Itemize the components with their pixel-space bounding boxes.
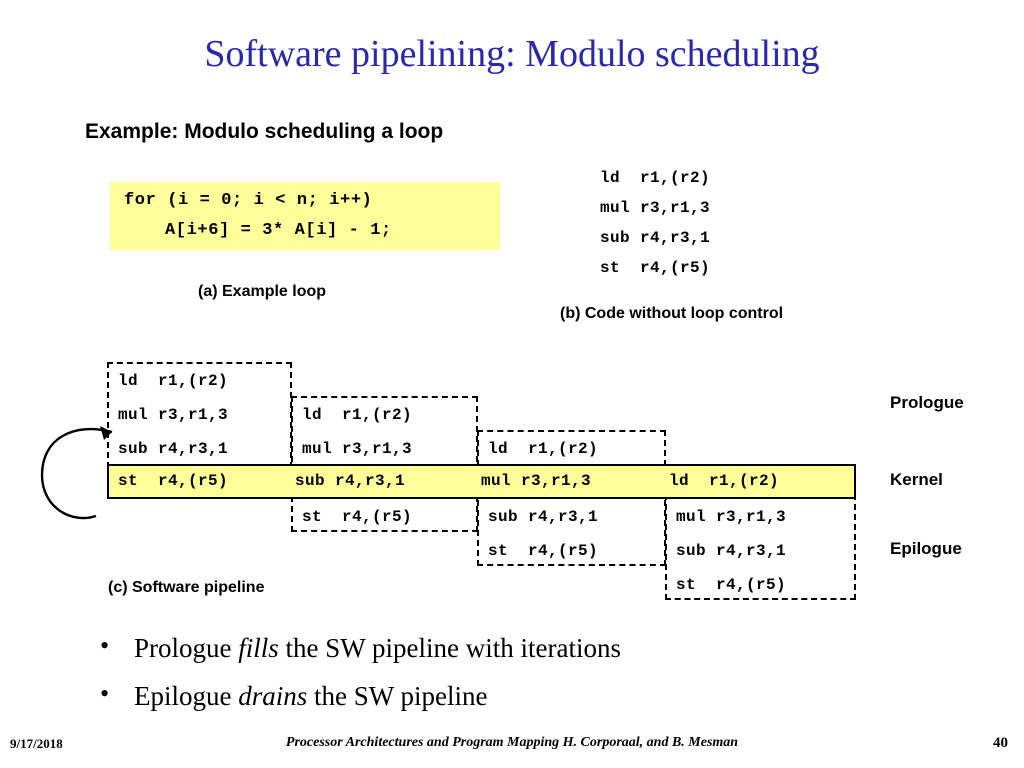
caption-c: (c) Software pipeline: [108, 579, 264, 597]
kernel-instruction: sub r4,r3,1: [295, 466, 405, 497]
stage-instruction: ld r1,(r2): [293, 398, 476, 432]
bullet-item: Prologue fills the SW pipeline with iter…: [92, 630, 952, 666]
bullet-text-post: the SW pipeline: [307, 681, 487, 711]
kernel-instruction: st r4,(r5): [118, 466, 228, 497]
stage-instruction: mul r3,r1,3: [109, 398, 290, 432]
bullet-text-pre: Epilogue: [134, 681, 238, 711]
code-line: ld r1,(r2): [600, 163, 710, 193]
section-subtitle: Example: Modulo scheduling a loop: [85, 120, 443, 144]
loop-code-line-2: A[i+6] = 3* A[i] - 1;: [165, 221, 392, 240]
bullet-item: Epilogue drains the SW pipeline: [92, 678, 952, 714]
stage-instruction: mul r3,r1,3: [667, 500, 854, 534]
footer-page-number: 40: [993, 735, 1008, 752]
stage-instruction: st r4,(r5): [479, 534, 664, 568]
code-without-loop-control: ld r1,(r2) mul r3,r1,3 sub r4,r3,1 st r4…: [600, 163, 710, 283]
stage-instruction: mul r3,r1,3: [293, 432, 476, 466]
code-line: st r4,(r5): [600, 253, 710, 283]
loop-code-line-1: for (i = 0; i < n; i++): [124, 191, 372, 210]
code-line: mul r3,r1,3: [600, 193, 710, 223]
caption-a: (a) Example loop: [198, 283, 326, 301]
bullet-text-pre: Prologue: [134, 633, 238, 663]
stage-instruction: ld r1,(r2): [109, 364, 290, 398]
page-title: Software pipelining: Modulo scheduling: [0, 32, 1024, 76]
bullet-text-emphasis: fills: [238, 633, 279, 663]
stage-instruction: sub r4,r3,1: [667, 534, 854, 568]
label-kernel: Kernel: [890, 470, 943, 490]
bullet-text-post: the SW pipeline with iterations: [279, 633, 621, 663]
kernel-instruction: mul r3,r1,3: [481, 466, 591, 497]
slide: Software pipelining: Modulo scheduling E…: [0, 0, 1024, 768]
example-loop-code-box: for (i = 0; i < n; i++) A[i+6] = 3* A[i]…: [110, 182, 500, 250]
label-epilogue: Epilogue: [890, 539, 962, 559]
bullet-text-emphasis: drains: [238, 681, 307, 711]
kernel-instruction: ld r1,(r2): [669, 466, 779, 497]
stage-instruction: sub r4,r3,1: [479, 500, 664, 534]
code-line: sub r4,r3,1: [600, 223, 710, 253]
bullet-list: Prologue fills the SW pipeline with iter…: [92, 630, 952, 726]
footer-course-title: Processor Architectures and Program Mapp…: [0, 735, 1024, 751]
stage-instruction: ld r1,(r2): [479, 432, 664, 466]
label-prologue: Prologue: [890, 393, 964, 413]
stage-instruction: st r4,(r5): [293, 500, 476, 534]
stage-instruction: sub r4,r3,1: [109, 432, 290, 466]
kernel-band: st r4,(r5) sub r4,r3,1 mul r3,r1,3 ld r1…: [107, 464, 856, 499]
caption-b: (b) Code without loop control: [560, 305, 783, 323]
slide-footer: 9/17/2018 Processor Architectures and Pr…: [0, 728, 1024, 768]
stage-instruction: st r4,(r5): [667, 568, 854, 602]
